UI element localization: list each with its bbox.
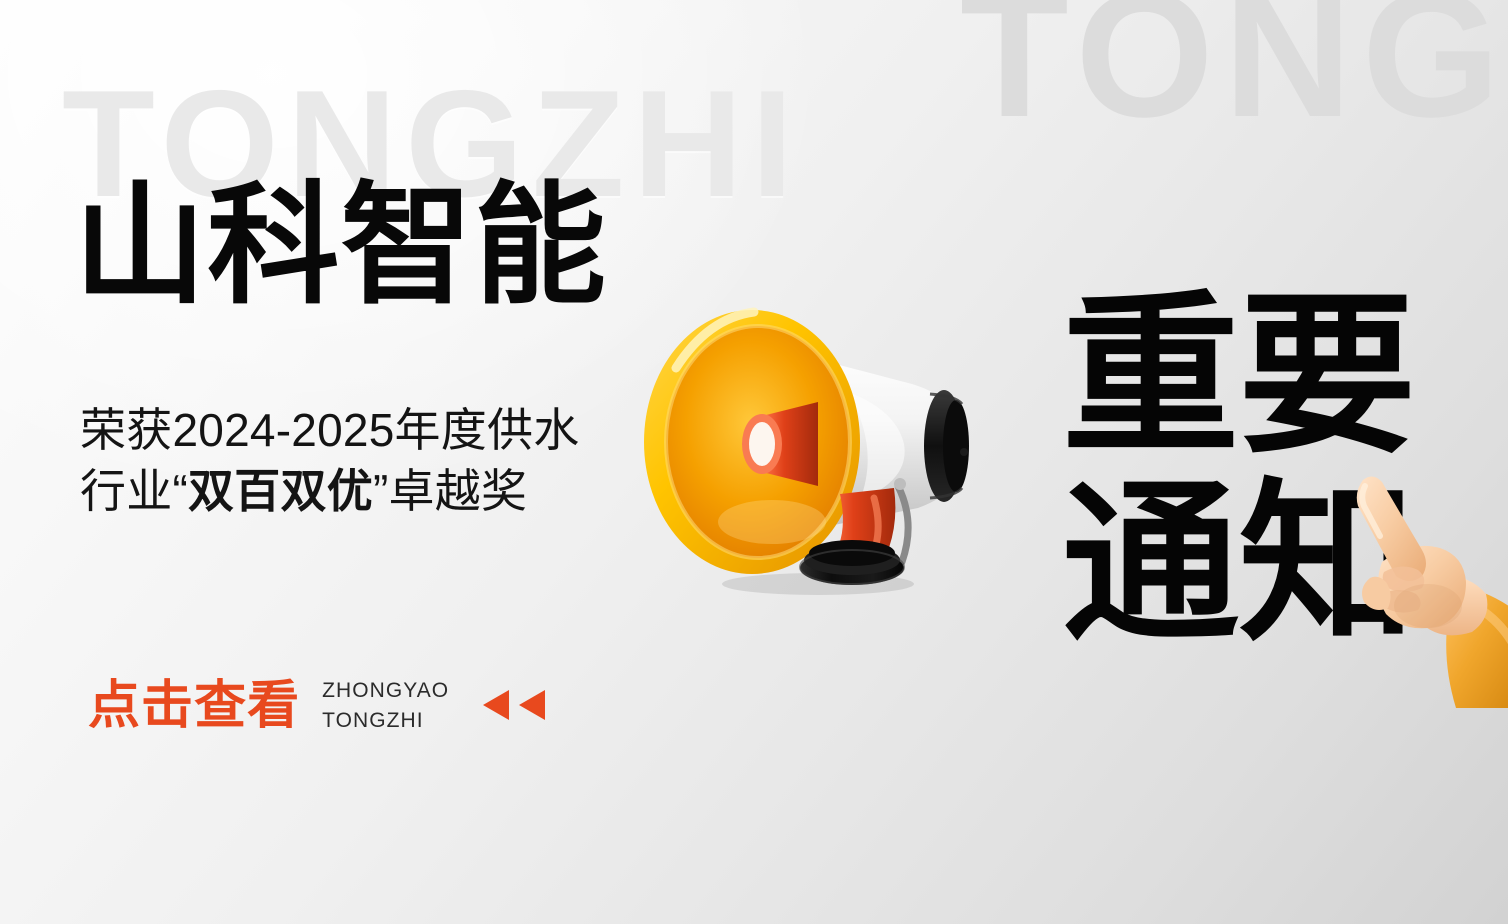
- cta-arrows[interactable]: [483, 690, 545, 722]
- notice-headline: 重要 通知: [1062, 282, 1415, 658]
- award-subtitle-line-1: 荣获2024-2025年度供水: [80, 400, 714, 461]
- watermark-tongzhi-2: TONGZHI: [960, 0, 1508, 144]
- cta-pinyin: ZHONGYAO TONGZHI: [322, 676, 449, 737]
- award-subtitle-suffix: 卓越奖: [389, 465, 528, 517]
- cta-pinyin-line-1: ZHONGYAO: [322, 676, 449, 706]
- notice-headline-line-2: 通知: [1062, 470, 1415, 658]
- cta-pinyin-line-2: TONGZHI: [322, 706, 449, 736]
- notice-headline-line-1: 重要: [1062, 282, 1415, 470]
- brand-title: 山科智能: [74, 176, 714, 316]
- arrow-left-icon-1[interactable]: [483, 690, 509, 720]
- quote-close: ”: [373, 465, 389, 517]
- award-subtitle-prefix: 行业: [80, 465, 172, 517]
- cta-label[interactable]: 点击查看: [88, 680, 300, 732]
- award-subtitle-line-2: 行业“双百双优”卓越奖: [80, 461, 714, 522]
- promo-banner: TONGZHI TONGZHI: [0, 0, 1508, 924]
- award-subtitle: 荣获2024-2025年度供水 行业“双百双优”卓越奖: [80, 400, 714, 522]
- award-subtitle-emphasis: 双百双优: [188, 465, 373, 517]
- quote-open: “: [172, 465, 188, 517]
- cta-row[interactable]: 点击查看 ZHONGYAO TONGZHI: [88, 676, 545, 737]
- left-content: 山科智能 荣获2024-2025年度供水 行业“双百双优”卓越奖: [74, 176, 714, 522]
- arrow-left-icon-2[interactable]: [519, 690, 545, 720]
